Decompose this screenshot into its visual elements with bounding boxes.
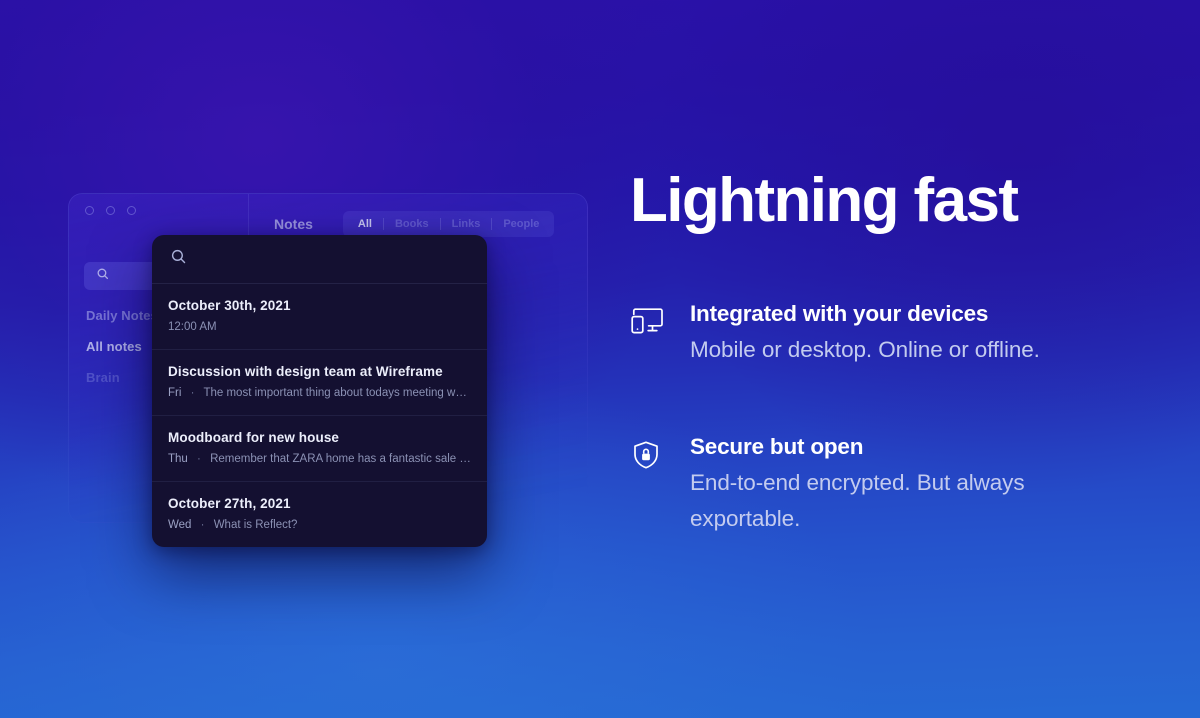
sidebar-item-daily-notes[interactable]: Daily Notes [86, 308, 158, 323]
search-result-row[interactable]: October 27th, 2021 Wed · What is Reflect… [152, 482, 487, 547]
tab-books[interactable]: Books [384, 218, 440, 230]
result-meta: Thu · Remember that ZARA home has a fant… [168, 453, 471, 465]
tab-people[interactable]: People [492, 218, 550, 230]
result-day: Thu [168, 453, 188, 465]
sidebar-item-label: Brain [86, 370, 120, 385]
minimize-icon[interactable] [106, 206, 115, 215]
search-result-row[interactable]: October 30th, 2021 12:00 AM [152, 284, 487, 350]
feature-text: Secure but open End-to-end encrypted. Bu… [690, 433, 1070, 537]
result-separator: · [195, 519, 211, 531]
search-icon [170, 248, 187, 270]
sidebar-item-label: Daily Notes [86, 308, 158, 323]
feature-secure-open: Secure but open End-to-end encrypted. Bu… [630, 433, 1070, 537]
result-meta: Wed · What is Reflect? [168, 519, 471, 531]
feature-integrated-devices: Integrated with your devices Mobile or d… [630, 300, 1070, 368]
traffic-lights [85, 206, 136, 215]
search-result-row[interactable]: Discussion with design team at Wireframe… [152, 350, 487, 416]
result-title: October 27th, 2021 [168, 496, 471, 511]
result-snippet: What is Reflect? [214, 519, 298, 531]
devices-icon [630, 306, 672, 336]
search-bar[interactable] [152, 235, 487, 284]
sidebar-item-brain[interactable]: Brain [86, 370, 120, 385]
result-day: Fri [168, 387, 181, 399]
tab-all[interactable]: All [347, 218, 383, 230]
feature-description: Mobile or desktop. Online or offline. [690, 332, 1040, 368]
sidebar-item-label: All notes [86, 339, 142, 354]
page-title: Notes [274, 216, 313, 232]
notes-filter-tabs[interactable]: All Books Links People [343, 211, 555, 237]
shield-lock-icon [630, 439, 672, 471]
result-day: Wed [168, 519, 191, 531]
feature-text: Integrated with your devices Mobile or d… [690, 300, 1040, 368]
zoom-icon[interactable] [127, 206, 136, 215]
close-icon[interactable] [85, 206, 94, 215]
marketing-column: Lightning fast Integrated with your devi… [630, 0, 1100, 718]
feature-title: Secure but open [690, 433, 1070, 460]
search-icon [96, 267, 109, 285]
result-meta: Fri · The most important thing about tod… [168, 387, 471, 399]
search-result-row[interactable]: Moodboard for new house Thu · Remember t… [152, 416, 487, 482]
sidebar-item-all-notes[interactable]: All notes [86, 339, 142, 354]
result-snippet: Remember that ZARA home has a fantastic … [210, 453, 471, 465]
feature-title: Integrated with your devices [690, 300, 1040, 327]
result-snippet: 12:00 AM [168, 321, 217, 333]
result-title: Discussion with design team at Wireframe [168, 364, 471, 379]
result-meta: 12:00 AM [168, 321, 471, 333]
hero-headline: Lightning fast [630, 168, 1017, 233]
result-separator: · [191, 453, 207, 465]
tab-links[interactable]: Links [441, 218, 492, 230]
result-title: October 30th, 2021 [168, 298, 471, 313]
feature-description: End-to-end encrypted. But always exporta… [690, 465, 1070, 537]
result-separator: · [185, 387, 201, 399]
result-snippet: The most important thing about todays me… [203, 387, 471, 399]
result-title: Moodboard for new house [168, 430, 471, 445]
search-overlay-panel: October 30th, 2021 12:00 AM Discussion w… [152, 235, 487, 547]
